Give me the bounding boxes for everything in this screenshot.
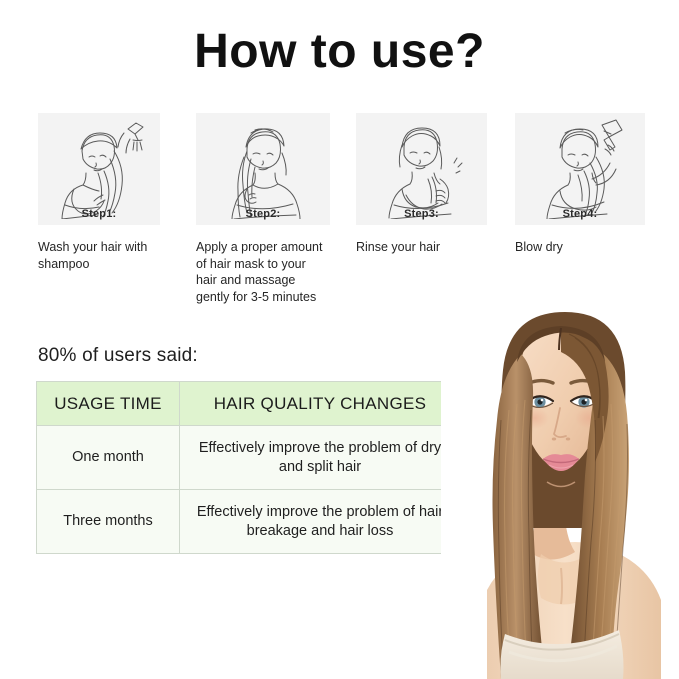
table-header-row: USAGE TIME HAIR QUALITY CHANGES	[37, 382, 461, 426]
woman-rinsing-hair-icon	[362, 115, 482, 219]
step-label-1: Step1:	[38, 208, 160, 220]
table-row: Three months Effectively improve the pro…	[37, 490, 461, 554]
woman-applying-hair-mask-icon	[203, 115, 323, 219]
step-thumbnail-3: Step3:	[356, 113, 487, 225]
step-item-4: Step4: Blow dry	[515, 113, 645, 256]
woman-washing-hair-shower-icon	[40, 115, 158, 219]
step-caption-1: Wash your hair with shampoo	[38, 239, 160, 272]
step-caption-4: Blow dry	[515, 239, 645, 256]
survey-heading: 80% of users said:	[38, 345, 198, 367]
step-label-2: Step2:	[196, 208, 330, 220]
column-header-usage-time: USAGE TIME	[37, 382, 180, 426]
table-row: One month Effectively improve the proble…	[37, 426, 461, 490]
woman-blow-drying-hair-icon	[520, 115, 640, 219]
model-photo	[441, 300, 679, 679]
steps-strip: Step1: Wash your hair with shampoo	[0, 113, 679, 303]
step-label-4: Step4:	[515, 208, 645, 220]
step-item-3: Step3: Rinse your hair	[356, 113, 487, 256]
step-thumbnail-2: Step2:	[196, 113, 330, 225]
cell-usage-time: One month	[37, 426, 180, 490]
page-title: How to use?	[0, 26, 679, 79]
cell-hair-quality: Effectively improve the problem of dry a…	[180, 426, 461, 490]
cell-hair-quality: Effectively improve the problem of hair …	[180, 490, 461, 554]
hair-quality-table: USAGE TIME HAIR QUALITY CHANGES One mont…	[36, 381, 461, 554]
step-caption-2: Apply a proper amount of hair mask to yo…	[196, 239, 330, 305]
step-thumbnail-1: Step1:	[38, 113, 160, 225]
woman-with-long-straight-brown-hair-photo	[441, 300, 679, 679]
cell-usage-time: Three months	[37, 490, 180, 554]
step-caption-3: Rinse your hair	[356, 239, 487, 256]
step-label-3: Step3:	[356, 208, 487, 220]
step-item-2: Step2: Apply a proper amount of hair mas…	[196, 113, 330, 305]
column-header-hair-quality: HAIR QUALITY CHANGES	[180, 382, 461, 426]
step-thumbnail-4: Step4:	[515, 113, 645, 225]
step-item-1: Step1: Wash your hair with shampoo	[38, 113, 160, 272]
